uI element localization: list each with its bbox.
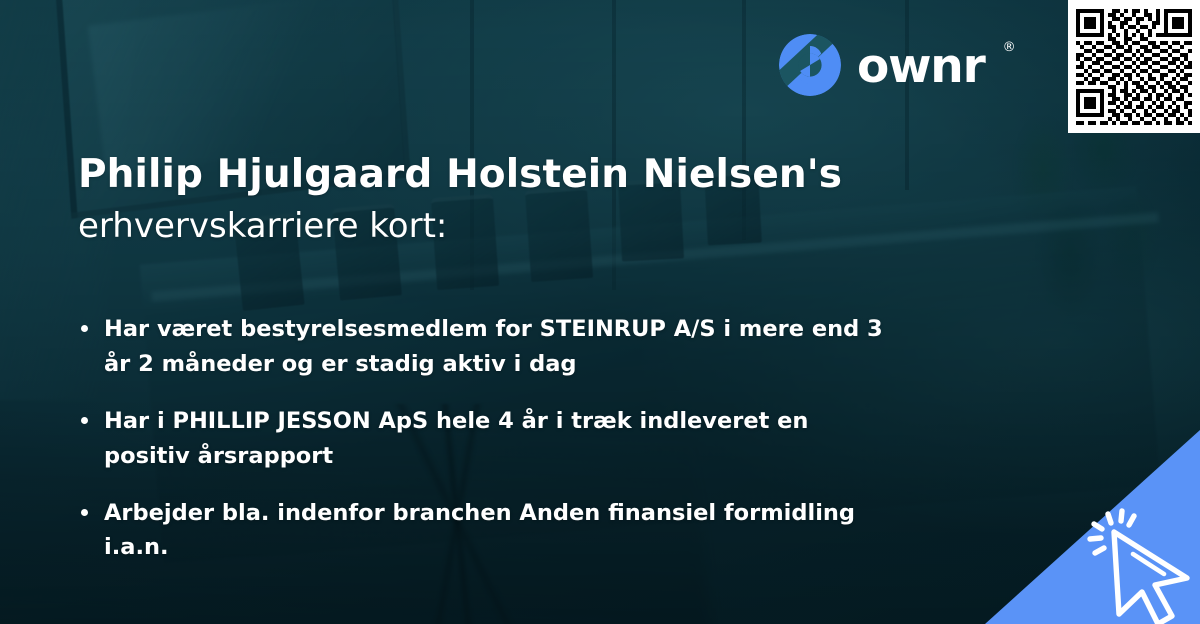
qr-code-icon bbox=[1076, 9, 1192, 125]
ownr-logo[interactable]: ownr ® bbox=[779, 34, 1014, 96]
page-title: Philip Hjulgaard Holstein Nielsen's erhv… bbox=[78, 152, 978, 247]
headline-line-2: erhvervskarriere kort: bbox=[78, 206, 978, 247]
list-item-text: Arbejder bla. indenfor branchen Anden fi… bbox=[104, 500, 855, 561]
list-item: Arbejder bla. indenfor branchen Anden fi… bbox=[78, 496, 888, 566]
list-item: Har i PHILLIP JESSON ApS hele 4 år i træ… bbox=[78, 404, 888, 474]
registered-trademark-icon: ® bbox=[1003, 41, 1016, 54]
list-item: Har været bestyrelsesmedlem for STEINRUP… bbox=[78, 312, 888, 382]
bullet-dot-icon bbox=[81, 417, 88, 424]
ownr-wordmark: ownr bbox=[857, 43, 985, 90]
bullet-dot-icon bbox=[81, 325, 88, 332]
headline-line-1: Philip Hjulgaard Holstein Nielsen's bbox=[78, 152, 978, 198]
click-cursor-icon bbox=[1086, 506, 1200, 624]
qr-code[interactable] bbox=[1068, 0, 1200, 133]
list-item-text: Har i PHILLIP JESSON ApS hele 4 år i træ… bbox=[104, 408, 808, 469]
career-highlights-list: Har været bestyrelsesmedlem for STEINRUP… bbox=[78, 312, 888, 565]
list-item-text: Har været bestyrelsesmedlem for STEINRUP… bbox=[104, 316, 883, 377]
bullet-dot-icon bbox=[81, 509, 88, 516]
ownr-career-card: Philip Hjulgaard Holstein Nielsen's erhv… bbox=[0, 0, 1200, 624]
ownr-circle-swirl-logo-icon bbox=[779, 34, 841, 96]
